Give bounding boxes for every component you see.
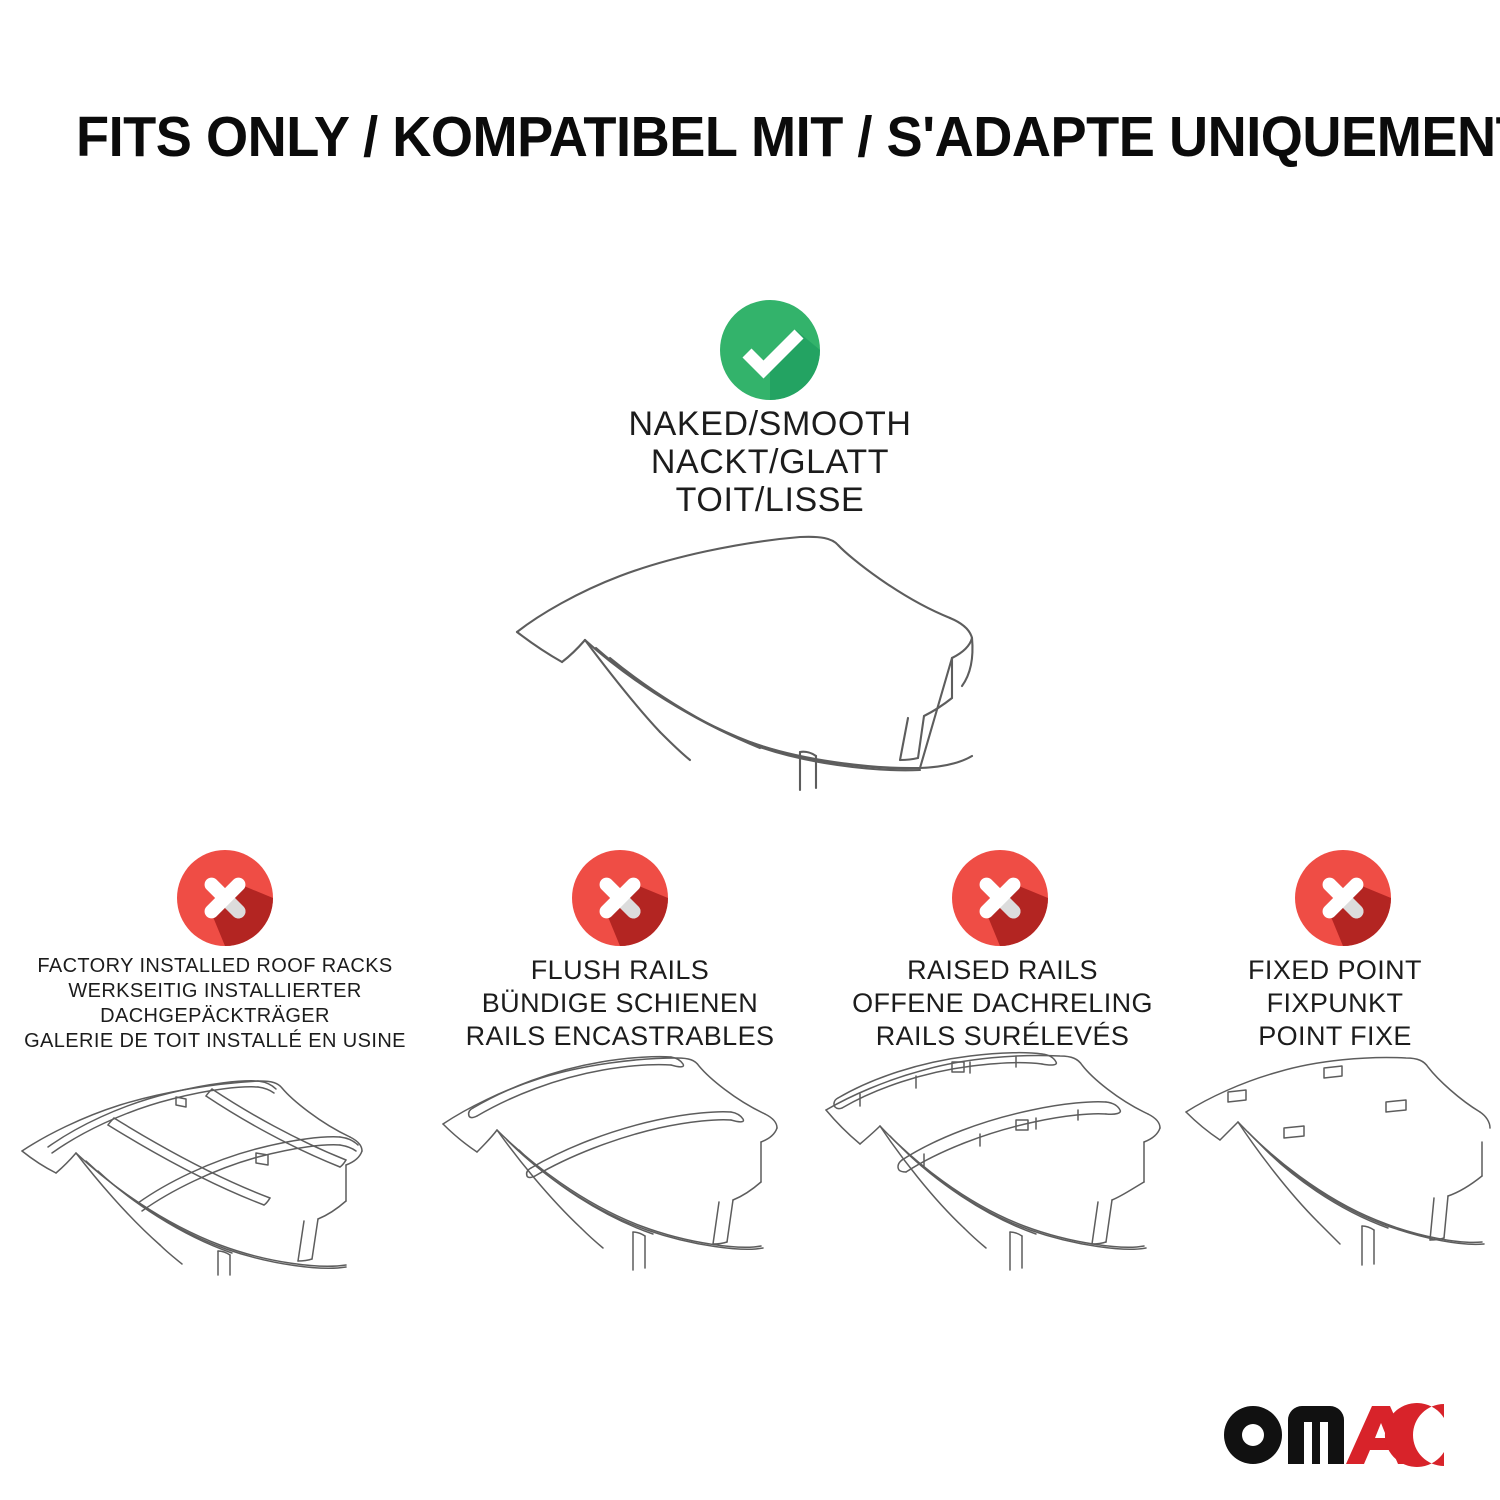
factory-roof-rack-illustration — [10, 1055, 420, 1275]
compatible-label-line: TOIT/LISSE — [470, 481, 1070, 519]
compatible-label-line: NACKT/GLATT — [470, 443, 1070, 481]
incompatible-label-line: FIXED POINT — [1180, 954, 1490, 987]
incompatible-label-line: OFFENE DACHRELING — [820, 987, 1185, 1020]
x-circle-icon — [1295, 850, 1391, 946]
incompatible-labels: FIXED POINT FIXPUNKT POINT FIXE — [1180, 954, 1490, 1053]
incompatible-item-flush-rails: FLUSH RAILS BÜNDIGE SCHIENEN RAILS ENCAS… — [435, 850, 805, 1300]
incompatible-item-raised-rails: RAISED RAILS OFFENE DACHRELING RAILS SUR… — [820, 850, 1185, 1300]
raised-rails-illustration — [820, 1050, 1185, 1270]
compatible-section: NAKED/SMOOTH NACKT/GLATT TOIT/LISSE — [0, 280, 1500, 800]
x-circle-icon — [572, 850, 668, 946]
incompatible-label-line: DACHGEPÄCKTRÄGER — [10, 1004, 420, 1029]
incompatible-label-line: GALERIE DE TOIT INSTALLÉ EN USINE — [10, 1029, 420, 1054]
incompatible-labels: RAISED RAILS OFFENE DACHRELING RAILS SUR… — [820, 954, 1185, 1053]
incompatible-label-line: FIXPUNKT — [1180, 987, 1490, 1020]
flush-rails-illustration — [435, 1050, 805, 1270]
incompatible-label-line: RAISED RAILS — [820, 954, 1185, 987]
incompatible-label-line: FLUSH RAILS — [435, 954, 805, 987]
incompatible-label-line: RAILS SURÉLEVÉS — [820, 1020, 1185, 1053]
incompatible-label-line: BÜNDIGE SCHIENEN — [435, 987, 805, 1020]
omac-logo-letter-o — [1224, 1406, 1282, 1464]
incompatible-item-fixed-point: FIXED POINT FIXPUNKT POINT FIXE — [1180, 850, 1490, 1300]
incompatible-label-line: WERKSEITIG INSTALLIERTER — [10, 979, 420, 1004]
naked-smooth-roof-illustration — [500, 520, 1020, 790]
incompatible-labels: FLUSH RAILS BÜNDIGE SCHIENEN RAILS ENCAS… — [435, 954, 805, 1053]
incompatible-labels: FACTORY INSTALLED ROOF RACKS WERKSEITIG … — [10, 954, 420, 1054]
incompatible-item-factory-installed-roof-racks: FACTORY INSTALLED ROOF RACKS WERKSEITIG … — [10, 850, 420, 1300]
compatible-labels: NAKED/SMOOTH NACKT/GLATT TOIT/LISSE — [470, 405, 1070, 519]
incompatible-label-line: POINT FIXE — [1180, 1020, 1490, 1053]
page-title: FITS ONLY / KOMPATIBEL MIT / S'ADAPTE UN… — [76, 104, 1368, 170]
fixed-point-illustration — [1180, 1050, 1490, 1270]
omac-logo-letter-c — [1385, 1403, 1444, 1467]
x-circle-icon — [177, 850, 273, 946]
x-circle-icon — [952, 850, 1048, 946]
check-circle-icon — [720, 300, 820, 400]
incompatible-label-line: FACTORY INSTALLED ROOF RACKS — [10, 954, 420, 979]
incompatible-label-line: RAILS ENCASTRABLES — [435, 1020, 805, 1053]
omac-logo-letter-m — [1288, 1406, 1344, 1464]
compatible-label-line: NAKED/SMOOTH — [470, 405, 1070, 443]
omac-logo — [1222, 1404, 1444, 1466]
